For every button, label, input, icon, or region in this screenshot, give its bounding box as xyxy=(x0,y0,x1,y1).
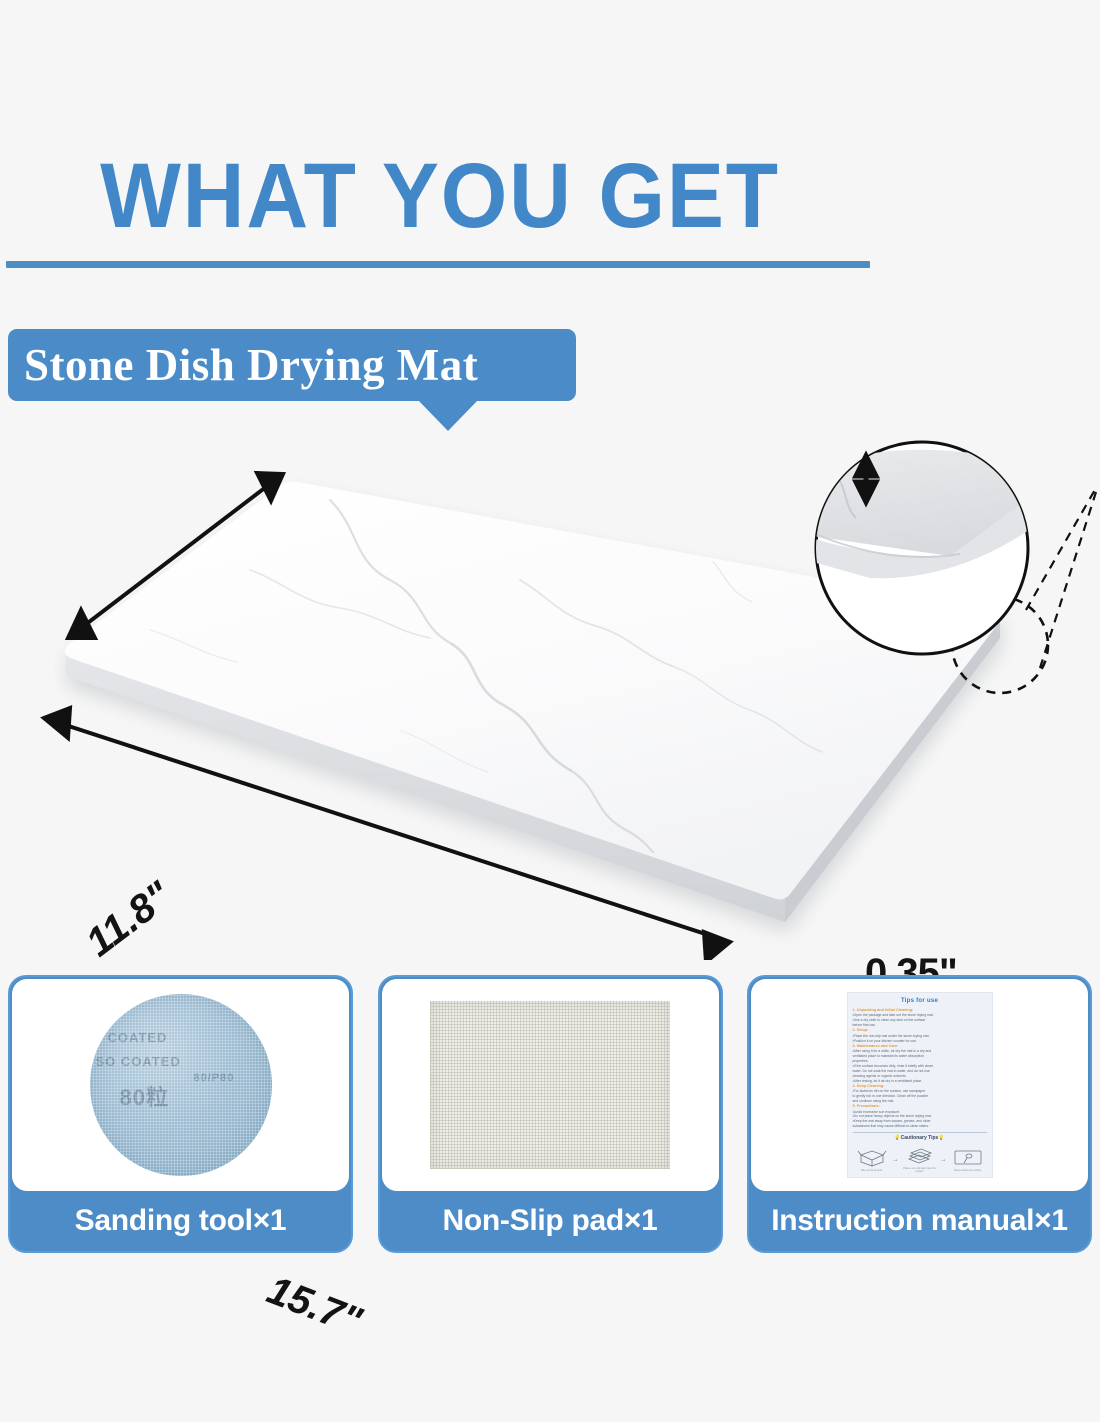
manual-title: Tips for use xyxy=(853,997,987,1006)
non-slip-pad-icon xyxy=(430,1001,670,1169)
card-non-slip-pad-photo xyxy=(382,979,719,1191)
manual-step-arrow-2: → xyxy=(941,1156,947,1165)
title-underline xyxy=(6,261,870,268)
card-instruction-manual[interactable]: Tips for use 1. Unpacking and Initial Cl… xyxy=(747,975,1092,1253)
zoom-connector-lines xyxy=(1026,488,1096,668)
manual-section-2: 2. Setup: •Place the non-slip mat under … xyxy=(853,1028,987,1043)
manual-divider xyxy=(853,1132,987,1133)
sanding-disc-print: COATED SO COATED 80/P80 80粒 xyxy=(90,994,272,1176)
card-sanding-tool-label: Sanding tool×1 xyxy=(10,1191,351,1251)
disc-print-2: SO COATED xyxy=(96,1054,181,1069)
manual-step-3: Clean another the surface xyxy=(949,1147,987,1173)
manual-cautionary-title: 💡Cautionary Tips💡 xyxy=(853,1135,987,1142)
page-title: WHAT YOU GET xyxy=(31,150,849,242)
product-badge-label: Stone Dish Drying Mat xyxy=(8,329,576,401)
included-items-row: COATED SO COATED 80/P80 80粒 Sanding tool… xyxy=(8,975,1092,1255)
manual-section-3: 3. Maintenance and Care: •After using it… xyxy=(853,1044,987,1084)
card-non-slip-pad[interactable]: Non-Slip pad×1 xyxy=(378,975,723,1253)
disc-print-4: 80粒 xyxy=(120,1080,169,1112)
card-sanding-tool[interactable]: COATED SO COATED 80/P80 80粒 Sanding tool… xyxy=(8,975,353,1253)
manual-step-arrow-1: → xyxy=(893,1156,899,1165)
dimension-label-length: 15.7" xyxy=(261,1268,368,1345)
disc-print-1: COATED xyxy=(108,1030,168,1045)
manual-step-2-caption: Place a non-slip pad under the product xyxy=(901,1168,939,1174)
manual-section-4: 4. Deep Cleaning: •For stubborn dirt on … xyxy=(853,1084,987,1104)
manual-step-2: Place a non-slip pad under the product xyxy=(901,1146,939,1175)
infographic-page: WHAT YOU GET Stone Dish Drying Mat xyxy=(0,0,1100,1422)
card-non-slip-pad-label: Non-Slip pad×1 xyxy=(380,1191,721,1251)
sanding-disc-icon: COATED SO COATED 80/P80 80粒 xyxy=(90,994,272,1176)
card-instruction-manual-photo: Tips for use 1. Unpacking and Initial Cl… xyxy=(751,979,1088,1191)
mat-drawing xyxy=(0,430,1100,960)
product-badge-tail xyxy=(418,400,478,431)
stacked-mat-pad-icon xyxy=(903,1146,937,1166)
sanding-surface-icon xyxy=(951,1147,985,1167)
manual-step-diagram: Take out the product → Plac xyxy=(853,1146,987,1175)
manual-step-1: Take out the product xyxy=(853,1147,891,1173)
disc-print-3: 80/P80 xyxy=(194,1072,235,1084)
mat-illustration: 11.8" 15.7" 0.35" xyxy=(0,430,1100,960)
manual-section-1: 1. Unpacking and Initial Cleaning: •Open… xyxy=(853,1008,987,1028)
manual-step-3-caption: Clean another the surface xyxy=(949,1170,987,1173)
manual-section-5: 5. Precautions: •Avoid excessive sun exp… xyxy=(853,1104,987,1129)
card-instruction-manual-label: Instruction manual×1 xyxy=(749,1191,1090,1251)
instruction-manual-sheet: Tips for use 1. Unpacking and Initial Cl… xyxy=(847,992,993,1178)
manual-step-1-caption: Take out the product xyxy=(853,1170,891,1173)
card-sanding-tool-photo: COATED SO COATED 80/P80 80粒 xyxy=(12,979,349,1191)
product-badge: Stone Dish Drying Mat xyxy=(8,329,576,401)
manual-line: substances that may cause difficult-to-c… xyxy=(853,1124,987,1129)
open-box-icon xyxy=(855,1147,889,1167)
